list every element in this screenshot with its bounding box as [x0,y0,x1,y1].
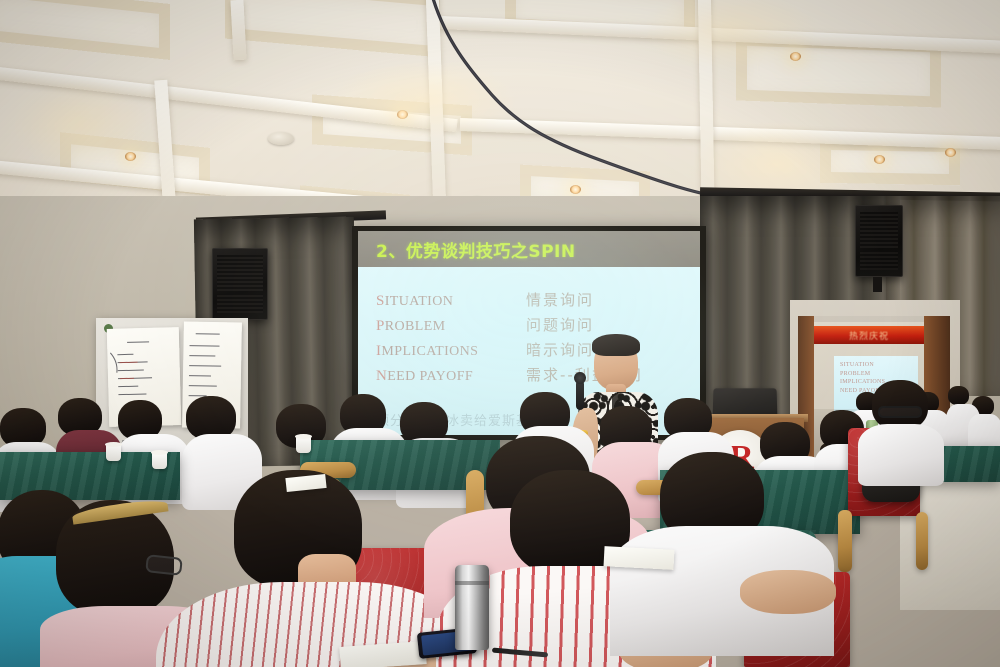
slide-title: 2、优势谈判技巧之SPIN [358,237,576,262]
slide-row-cn: 情景询问 [526,289,594,310]
eyeglasses-icon [878,406,922,418]
wall-speaker-left [212,248,268,320]
thermos-flask [455,565,489,650]
slide-row-en: PROBLEM [376,318,526,335]
paper-cup [152,452,167,469]
slide-row-en: NEED PAYOFF [376,368,526,385]
presenter-hair [592,334,640,356]
speaker-bracket [873,277,882,292]
recessed-downlight [945,148,956,157]
paper-cup [296,436,311,453]
microphone-icon [576,380,584,410]
ceiling-panel [225,0,440,57]
slide-row-problem: PROBLEM 问题询问 [358,314,700,339]
slide-row-en: IMPLICATIONS [376,343,526,360]
red-banner-text: 热烈庆祝 [849,329,889,342]
ceiling-beam [440,16,1000,54]
attendee-arm [740,570,836,614]
recessed-downlight [790,52,801,61]
chair-gold-frame [838,510,852,572]
paper-cup [106,444,121,461]
wall-speaker-right [855,205,903,277]
slide-row-situation: SITUATION 情景询问 [358,289,700,314]
recessed-downlight [570,185,581,194]
attendee-foreground-white-right [620,452,820,632]
slide-title-bar: 2、优势谈判技巧之SPIN [358,231,700,267]
mini-slide-line: PROBLEM [840,370,918,379]
red-banner: 热烈庆祝 [814,326,924,344]
seminar-photo-scene: 2、优势谈判技巧之SPIN SITUATION 情景询问 PROBLEM 问题询… [0,0,1000,667]
handout-paper [604,546,675,570]
recessed-downlight [874,155,885,164]
slide-row-en: SITUATION [376,293,526,310]
slide-row-cn: 问题询问 [526,314,594,335]
mini-slide-line: SITUATION [840,361,918,370]
chair-gold-frame [916,512,928,570]
recessed-downlight [125,152,136,161]
ceiling-beam [460,118,1000,151]
ceiling-panel [0,0,170,60]
attendee-right-glasses [856,380,946,480]
smoke-detector-icon [268,132,294,145]
recessed-downlight [397,110,408,119]
